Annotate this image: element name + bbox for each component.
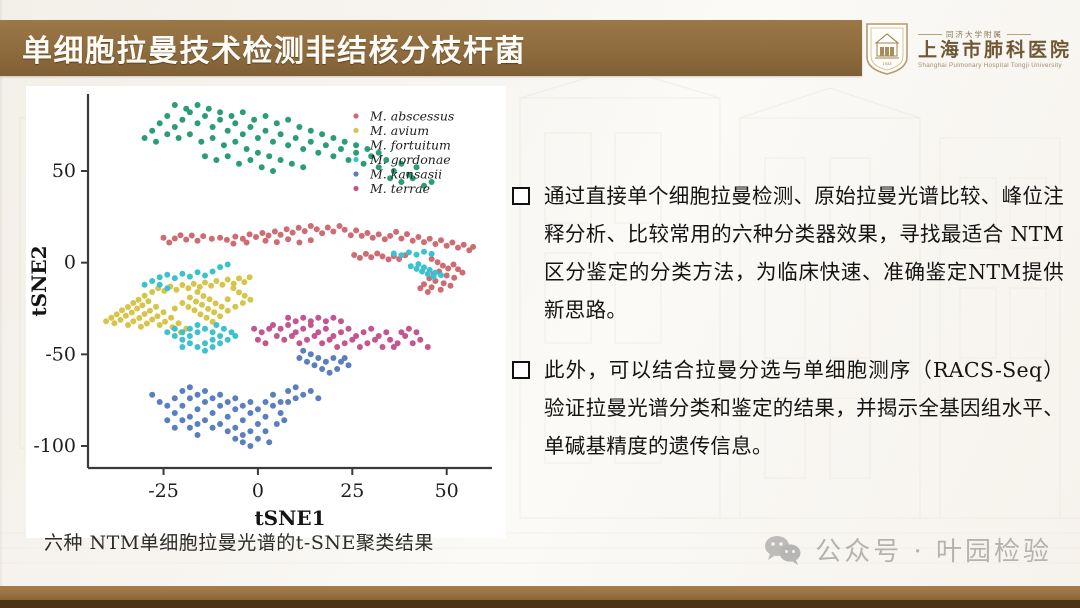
chart-legend: M. abscessusM. aviumM. fortuitumM. gordo… <box>353 109 454 197</box>
data-point <box>278 157 284 163</box>
data-point <box>210 269 216 275</box>
data-point <box>308 128 314 134</box>
data-point <box>176 320 182 326</box>
data-point <box>351 252 357 258</box>
data-point <box>210 344 216 350</box>
data-point <box>240 432 246 438</box>
data-point <box>300 348 306 354</box>
data-point <box>202 153 208 159</box>
data-point <box>191 281 197 287</box>
data-point <box>387 337 393 343</box>
data-point <box>315 315 321 321</box>
data-point <box>455 245 461 251</box>
data-point <box>142 293 148 299</box>
data-point <box>391 251 397 257</box>
scatter-series <box>103 274 253 335</box>
data-point <box>210 395 216 401</box>
data-point <box>323 142 329 148</box>
data-point <box>270 392 276 398</box>
data-point <box>195 238 201 244</box>
data-point <box>199 302 205 308</box>
wechat-icon <box>763 534 803 566</box>
data-point <box>368 326 374 332</box>
data-point <box>266 439 272 445</box>
data-point <box>187 395 193 401</box>
data-point <box>274 333 280 339</box>
data-point <box>138 324 144 330</box>
data-point <box>208 283 214 289</box>
data-point <box>398 252 404 258</box>
data-point <box>357 344 363 350</box>
data-point <box>285 388 291 394</box>
data-point <box>142 282 148 288</box>
data-point <box>153 304 159 310</box>
data-point <box>201 293 207 299</box>
data-point <box>247 428 253 434</box>
data-point <box>187 340 193 346</box>
data-point <box>315 355 321 361</box>
data-point <box>274 120 280 126</box>
data-point <box>225 399 231 405</box>
data-point <box>334 344 340 350</box>
data-point <box>172 102 178 108</box>
data-point <box>162 319 168 325</box>
data-point <box>202 340 208 346</box>
data-point <box>179 271 185 277</box>
data-point <box>247 157 253 163</box>
data-point <box>179 337 185 343</box>
data-point <box>210 329 216 335</box>
data-point <box>460 270 466 276</box>
data-point <box>240 131 246 137</box>
data-point <box>289 161 295 167</box>
data-point <box>441 280 447 286</box>
data-point <box>255 337 261 343</box>
data-point <box>224 237 230 243</box>
data-point <box>415 234 421 240</box>
data-point <box>179 388 185 394</box>
data-point <box>172 124 178 130</box>
data-point <box>251 117 257 123</box>
bullet-list: 通过直接单个细胞拉曼检测、原始拉曼光谱比较、峰位注释分析、比较常用的六种分类器效… <box>512 178 1064 487</box>
data-point <box>164 131 170 137</box>
data-point <box>421 239 427 245</box>
x-axis-label: tSNE1 <box>254 506 325 530</box>
data-point <box>198 311 204 317</box>
data-point <box>259 164 265 170</box>
data-point <box>225 153 231 159</box>
data-point <box>195 406 201 412</box>
data-point <box>217 264 223 270</box>
data-point <box>207 296 213 302</box>
data-point <box>219 304 225 310</box>
data-point <box>370 235 376 241</box>
data-point <box>247 443 253 449</box>
data-point <box>217 340 223 346</box>
data-point <box>296 225 302 231</box>
data-point <box>315 150 321 156</box>
data-point <box>202 113 208 119</box>
x-tick-label: 0 <box>252 480 264 502</box>
data-point <box>147 308 153 314</box>
data-point <box>209 236 215 242</box>
data-point <box>217 333 223 339</box>
data-point <box>338 318 344 324</box>
data-point <box>202 348 208 354</box>
data-point <box>285 236 291 242</box>
data-point <box>353 150 359 156</box>
scatter-series <box>149 348 351 449</box>
data-point <box>204 315 210 321</box>
data-point <box>451 262 457 268</box>
data-point <box>274 239 280 245</box>
footer-dark-strip <box>0 600 1080 608</box>
data-point <box>225 308 231 314</box>
y-axis-label: tSNE2 <box>27 245 51 316</box>
crest-icon: 1933 <box>864 21 910 77</box>
data-point <box>206 106 212 112</box>
data-point <box>300 164 306 170</box>
data-point <box>247 231 253 237</box>
data-point <box>444 243 450 249</box>
data-point <box>178 232 184 238</box>
data-point <box>319 230 325 236</box>
hospital-logo: 1933 同济大学附属 上海市肺科医院 Shanghai Pulmonary H… <box>864 18 1074 80</box>
data-point <box>364 230 370 236</box>
data-point <box>172 326 178 332</box>
data-point <box>408 263 414 269</box>
data-point <box>217 235 223 241</box>
data-point <box>319 366 325 372</box>
data-point <box>230 241 236 247</box>
data-point <box>296 340 302 346</box>
data-point <box>278 131 284 137</box>
data-point <box>380 253 386 259</box>
data-point <box>195 120 201 126</box>
data-point <box>285 142 291 148</box>
data-point <box>157 399 163 405</box>
data-point <box>195 392 201 398</box>
data-point <box>361 329 367 335</box>
data-point <box>429 284 435 290</box>
data-point <box>406 249 412 255</box>
data-point <box>349 337 355 343</box>
data-point <box>247 274 253 280</box>
data-point <box>125 304 131 310</box>
data-point <box>421 264 427 270</box>
data-point <box>240 439 246 445</box>
legend-label: M. gordonae <box>369 152 451 167</box>
data-point <box>225 428 231 434</box>
data-point <box>323 326 329 332</box>
data-point <box>290 230 296 236</box>
data-point <box>440 263 446 269</box>
data-point <box>263 399 269 405</box>
data-point <box>142 311 148 317</box>
logo-rule-right <box>1007 34 1031 35</box>
scatter-series <box>251 315 431 350</box>
data-point <box>198 139 204 145</box>
data-point <box>285 399 291 405</box>
data-point <box>210 425 216 431</box>
data-point <box>157 274 163 280</box>
data-point <box>217 403 223 409</box>
data-point <box>187 425 193 431</box>
data-point <box>172 306 178 312</box>
x-tick-label: 50 <box>435 480 459 502</box>
data-point <box>325 225 331 231</box>
data-point <box>404 231 410 237</box>
data-point <box>187 326 193 332</box>
data-point <box>123 313 129 319</box>
data-point <box>157 282 163 288</box>
data-point <box>293 395 299 401</box>
logo-hospital-name-cn: 上海市肺科医院 <box>918 41 1072 61</box>
data-point <box>173 287 179 293</box>
data-point <box>200 233 206 239</box>
data-point <box>195 432 201 438</box>
data-point <box>255 436 261 442</box>
data-point <box>241 279 247 285</box>
data-point <box>236 289 242 295</box>
figure-card: -2502550500-50-100tSNE1tSNE2M. abscessus… <box>26 86 506 538</box>
data-point <box>304 359 310 365</box>
data-point <box>232 234 238 240</box>
footer-band <box>0 586 1080 600</box>
data-point <box>236 161 242 167</box>
data-point <box>236 275 242 281</box>
data-point <box>253 234 259 240</box>
data-point <box>338 146 344 152</box>
data-point <box>189 233 195 239</box>
data-point <box>368 254 374 260</box>
data-point <box>285 315 291 321</box>
data-point <box>296 240 302 246</box>
data-point <box>398 329 404 335</box>
data-point <box>211 309 217 315</box>
data-point <box>327 337 333 343</box>
data-point <box>221 326 227 332</box>
data-point <box>247 399 253 405</box>
data-point <box>164 329 170 335</box>
data-point <box>210 124 216 130</box>
hollow-square-icon <box>512 187 530 205</box>
data-point <box>346 362 352 368</box>
data-point <box>164 285 170 291</box>
data-point <box>145 298 151 304</box>
data-point <box>263 238 269 244</box>
data-point <box>119 307 125 313</box>
data-point <box>255 421 261 427</box>
data-point <box>415 261 421 267</box>
data-point <box>129 310 135 316</box>
data-point <box>448 283 454 289</box>
data-point <box>232 120 238 126</box>
data-point <box>315 395 321 401</box>
data-point <box>449 240 455 246</box>
data-point <box>281 337 287 343</box>
page-title: 单细胞拉曼技术检测非结核分枝杆菌 <box>22 26 526 70</box>
bullet-text: 此外，可以结合拉曼分选与单细胞测序（RACS-Seq）验证拉曼光谱分类和鉴定的结… <box>544 352 1064 466</box>
logo-rule-left <box>918 34 942 35</box>
data-point <box>319 340 325 346</box>
data-point <box>432 241 438 247</box>
svg-text:1933: 1933 <box>883 61 893 66</box>
data-point <box>232 425 238 431</box>
data-point <box>210 337 216 343</box>
legend-marker <box>353 171 358 176</box>
data-point <box>427 236 433 242</box>
scatter-series <box>161 223 477 295</box>
data-point <box>406 326 412 332</box>
data-point <box>255 135 261 141</box>
data-point <box>364 340 370 346</box>
data-point <box>470 244 476 250</box>
data-point <box>302 228 308 234</box>
legend-label: M. kansasii <box>369 167 442 182</box>
legend-marker <box>353 142 358 147</box>
data-point <box>118 317 124 323</box>
data-point <box>330 229 336 235</box>
data-point <box>274 421 280 427</box>
data-point <box>346 157 352 163</box>
data-point <box>247 410 253 416</box>
data-point <box>451 275 457 281</box>
watermark-text: 公众号 · 叶园检验 <box>815 531 1052 568</box>
data-point <box>230 285 236 291</box>
data-point <box>348 232 354 238</box>
data-point <box>263 128 269 134</box>
data-point <box>266 233 272 239</box>
data-point <box>195 269 201 275</box>
data-point <box>270 403 276 409</box>
y-tick-label: 50 <box>52 160 76 182</box>
data-point <box>410 238 416 244</box>
data-point <box>232 304 238 310</box>
data-point <box>284 226 290 232</box>
data-point <box>195 421 201 427</box>
data-point <box>414 252 420 258</box>
data-point <box>247 297 253 303</box>
data-point <box>363 251 369 257</box>
data-point <box>225 296 231 302</box>
data-point <box>225 277 231 283</box>
data-point <box>232 436 238 442</box>
data-point <box>296 124 302 130</box>
data-point <box>172 410 178 416</box>
data-point <box>308 351 314 357</box>
data-point <box>380 344 386 350</box>
bullet-item: 通过直接单个细胞拉曼检测、原始拉曼光谱比较、峰位注释分析、比较常用的六种分类器效… <box>512 178 1064 330</box>
data-point <box>149 128 155 134</box>
data-point <box>108 315 114 321</box>
data-point <box>308 318 314 324</box>
data-point <box>438 287 444 293</box>
data-point <box>398 236 404 242</box>
data-point <box>247 124 253 130</box>
hollow-square-icon <box>512 361 530 379</box>
x-tick-label: 25 <box>340 480 364 502</box>
data-point <box>319 131 325 137</box>
bullet-item: 此外，可以结合拉曼分选与单细胞测序（RACS-Seq）验证拉曼光谱分类和鉴定的结… <box>512 352 1064 466</box>
data-point <box>229 329 235 335</box>
data-point <box>278 410 284 416</box>
data-point <box>240 109 246 115</box>
data-point <box>164 113 170 119</box>
data-point <box>342 139 348 145</box>
data-point <box>213 322 219 328</box>
legend-label: M. terrae <box>369 181 430 196</box>
data-point <box>221 142 227 148</box>
data-point <box>185 285 191 291</box>
data-point <box>149 278 155 284</box>
data-point <box>414 329 420 335</box>
data-point <box>179 117 185 123</box>
data-point <box>217 421 223 427</box>
data-point <box>293 318 299 324</box>
data-point <box>125 322 131 328</box>
data-point <box>278 232 284 238</box>
y-tick-label: -50 <box>45 343 76 365</box>
data-point <box>149 392 155 398</box>
data-point <box>232 139 238 145</box>
data-point <box>357 255 363 261</box>
data-point <box>361 161 367 167</box>
header-bar: 单细胞拉曼技术检测非结核分枝杆菌 <box>0 20 862 76</box>
data-point <box>164 403 170 409</box>
data-point <box>417 337 423 343</box>
data-point <box>429 251 435 257</box>
data-point <box>342 340 348 346</box>
legend-marker <box>353 128 358 133</box>
data-point <box>323 318 329 324</box>
y-tick-label: 0 <box>64 252 76 274</box>
data-point <box>393 229 399 235</box>
data-point <box>195 322 201 328</box>
data-point <box>202 273 208 279</box>
data-point <box>285 322 291 328</box>
data-point <box>425 344 431 350</box>
data-point <box>425 289 431 295</box>
legend-label: M. abscessus <box>369 109 454 124</box>
data-point <box>179 344 185 350</box>
data-point <box>445 266 451 272</box>
data-point <box>166 240 172 246</box>
data-point <box>225 337 231 343</box>
data-point <box>144 321 150 327</box>
data-point <box>187 274 193 280</box>
data-point <box>225 128 231 134</box>
data-point <box>300 326 306 332</box>
data-point <box>251 326 257 332</box>
data-point <box>176 135 182 141</box>
data-point <box>410 340 416 346</box>
bullet-text: 通过直接单个细胞拉曼检测、原始拉曼光谱比较、峰位注释分析、比较常用的六种分类器效… <box>544 178 1064 330</box>
legend-marker <box>353 157 358 162</box>
data-point <box>435 259 441 265</box>
data-point <box>263 414 269 420</box>
data-point <box>168 315 174 321</box>
data-point <box>232 395 238 401</box>
data-point <box>161 235 167 241</box>
data-point <box>242 293 248 299</box>
data-point <box>266 153 272 159</box>
data-point <box>308 139 314 145</box>
data-point <box>304 337 310 343</box>
data-point <box>327 370 333 376</box>
data-point <box>172 395 178 401</box>
data-point <box>308 237 314 243</box>
